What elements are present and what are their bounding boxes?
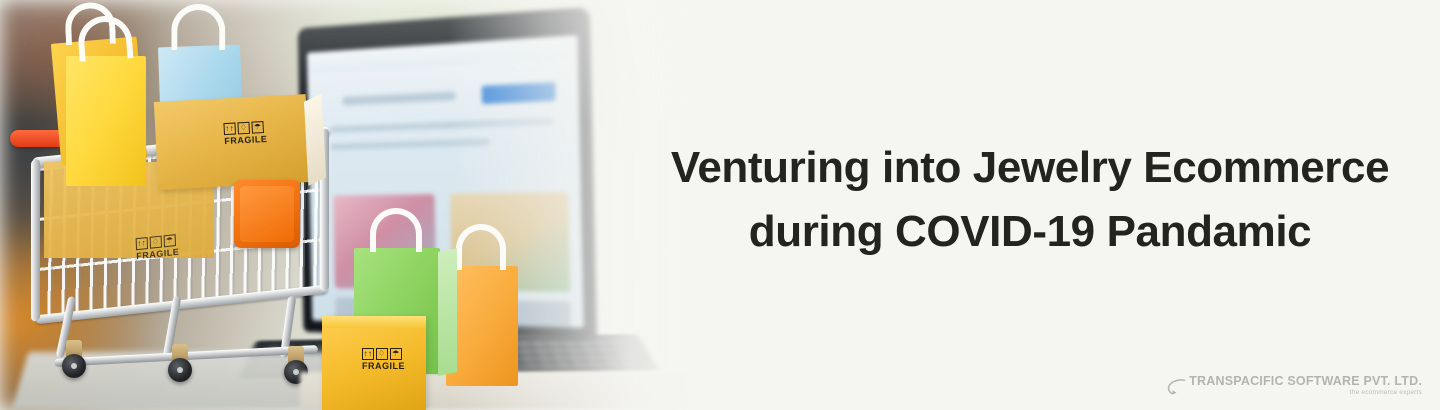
logo-text-block: TRANSPACIFIC SOFTWARE PVT. LTD. the ecom… [1189,374,1422,396]
promo-banner: ↑↑ ♢ ☂ FRAGILE ↑↑ ♢ ☂ [0,0,1440,410]
headline-line-2: during COVID-19 Pandamic [640,200,1420,264]
company-name: TRANSPACIFIC SOFTWARE PVT. LTD. [1189,374,1422,388]
fragile-glass-icon: ♢ [237,122,250,135]
foreground-parcel-group: ↑↑ ♢ ☂ FRAGILE [318,196,528,410]
website-text-row [330,117,554,133]
bag-handle [456,224,506,270]
fragile-stamp-behind-mesh: ↑↑ ♢ ☂ FRAGILE [136,234,180,261]
orange-box-panel [234,180,300,248]
cart-frame [48,296,318,368]
fragile-stamp-front: ↑↑ ♢ ☂ FRAGILE [362,348,405,371]
hero-photo: ↑↑ ♢ ☂ FRAGILE ↑↑ ♢ ☂ [0,0,700,410]
website-primary-button [482,82,556,104]
cart-side-rail-left [31,159,40,322]
swoosh-icon [1166,378,1188,398]
this-side-up-icon: ↑↑ [223,123,236,136]
shopping-cart: ↑↑ ♢ ☂ FRAGILE ↑↑ ♢ ☂ [8,118,338,403]
keep-dry-umbrella-icon: ☂ [164,234,176,247]
website-search-field [342,91,456,105]
shopping-bag-yellow-front [66,56,146,186]
website-text-row [330,138,489,150]
company-logo[interactable]: TRANSPACIFIC SOFTWARE PVT. LTD. the ecom… [1166,374,1422,398]
bag-handle [171,4,225,50]
cart-wheel [168,358,192,382]
fragile-label: FRAGILE [362,362,405,371]
banner-headline: Venturing into Jewelry Ecommerce during … [640,136,1420,264]
company-tagline: the ecommerce experts [1189,389,1422,396]
keep-dry-umbrella-icon: ☂ [390,348,402,360]
bag-handle [370,208,422,252]
handling-icon-row: ↑↑ ♢ ☂ [362,348,405,360]
website-topbar [307,35,578,74]
cart-wheel [62,354,86,378]
bag-side-face [438,248,457,376]
fragile-glass-icon: ♢ [150,236,162,249]
keep-dry-umbrella-icon: ☂ [251,121,264,134]
fragile-stamp: ↑↑ ♢ ☂ FRAGILE [223,121,267,146]
handling-icon-row: ↑↑ ♢ ☂ [223,121,267,135]
this-side-up-icon: ↑↑ [362,348,374,360]
headline-line-1: Venturing into Jewelry Ecommerce [640,136,1420,200]
this-side-up-icon: ↑↑ [136,237,148,250]
fragile-glass-icon: ♢ [376,348,388,360]
